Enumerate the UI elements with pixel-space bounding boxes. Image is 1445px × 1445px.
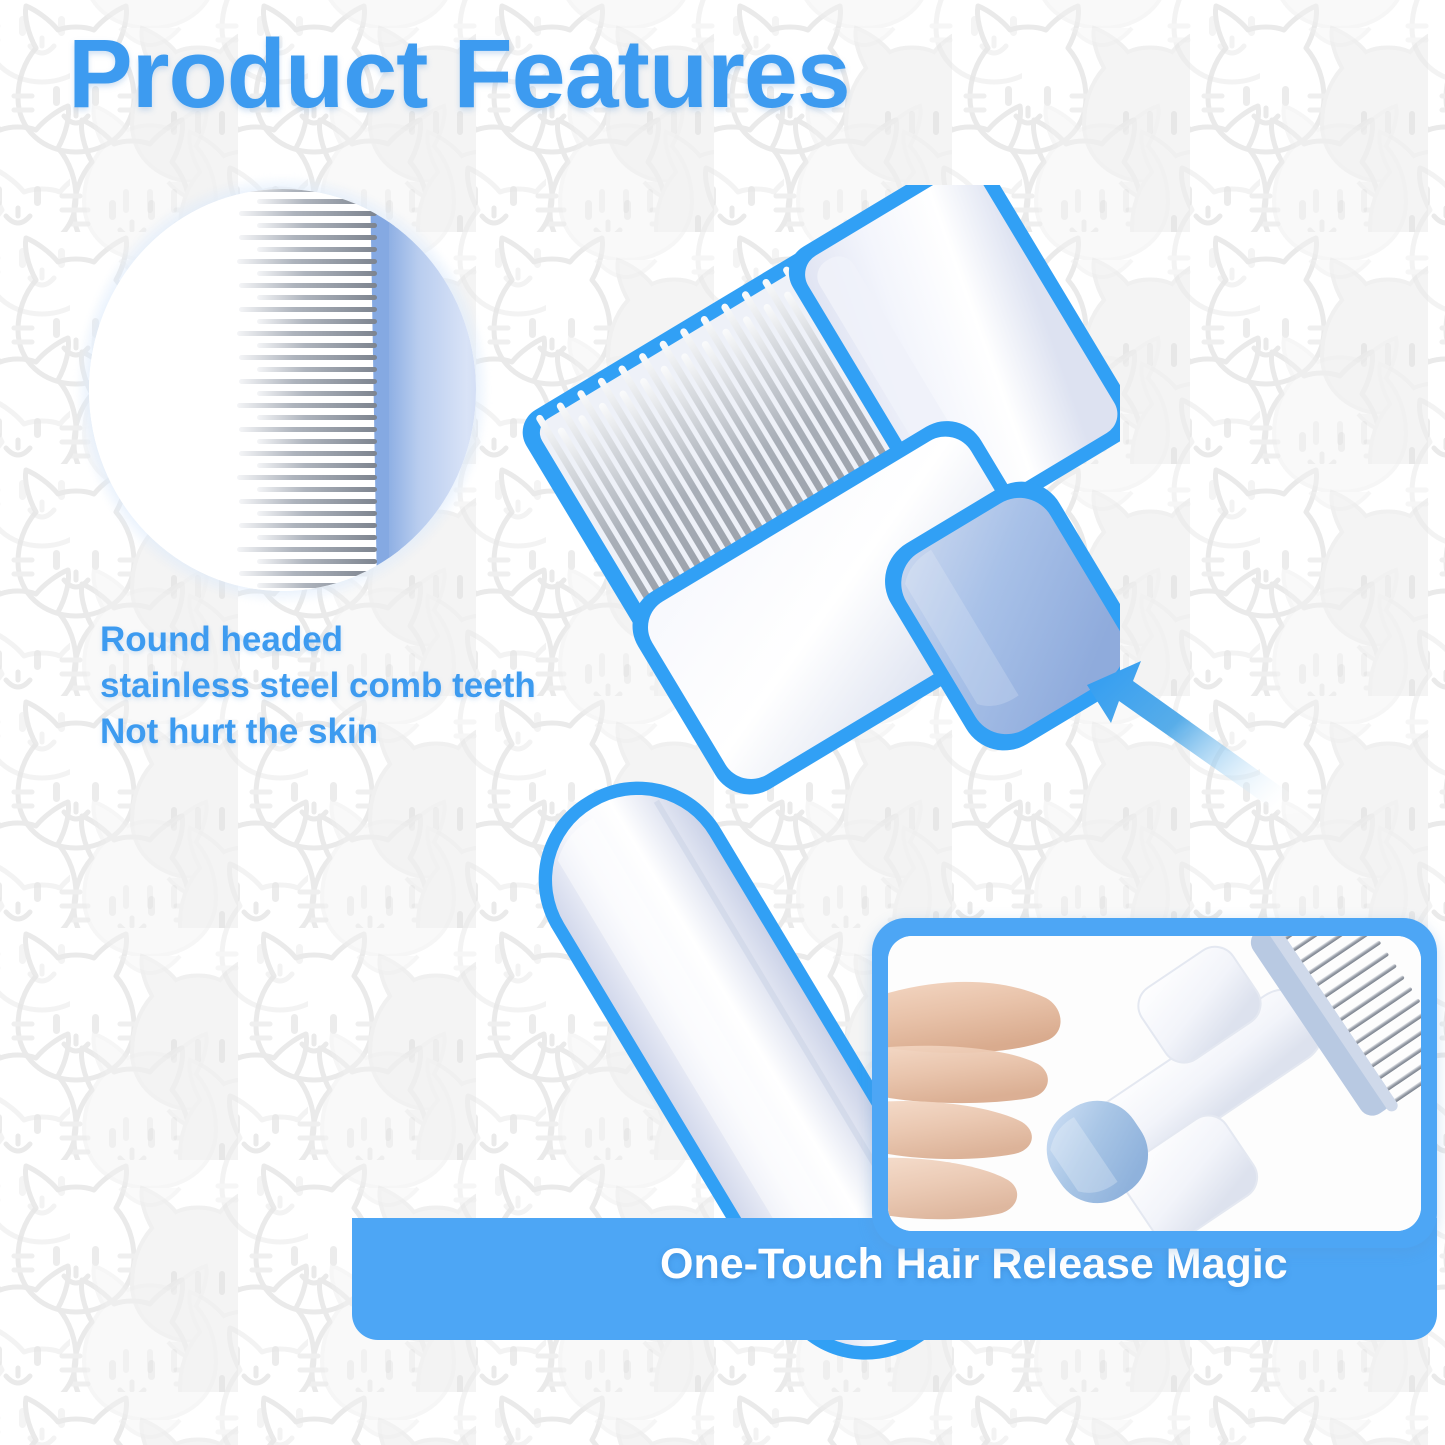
infographic-canvas: Product Features [0, 0, 1445, 1445]
hair-release-photo-card [872, 918, 1437, 1248]
pointer-arrow-icon [1075, 625, 1325, 815]
page-title: Product Features [68, 18, 850, 130]
hand-holding-brush-photo [888, 936, 1421, 1231]
hair-release-photo [888, 936, 1421, 1231]
